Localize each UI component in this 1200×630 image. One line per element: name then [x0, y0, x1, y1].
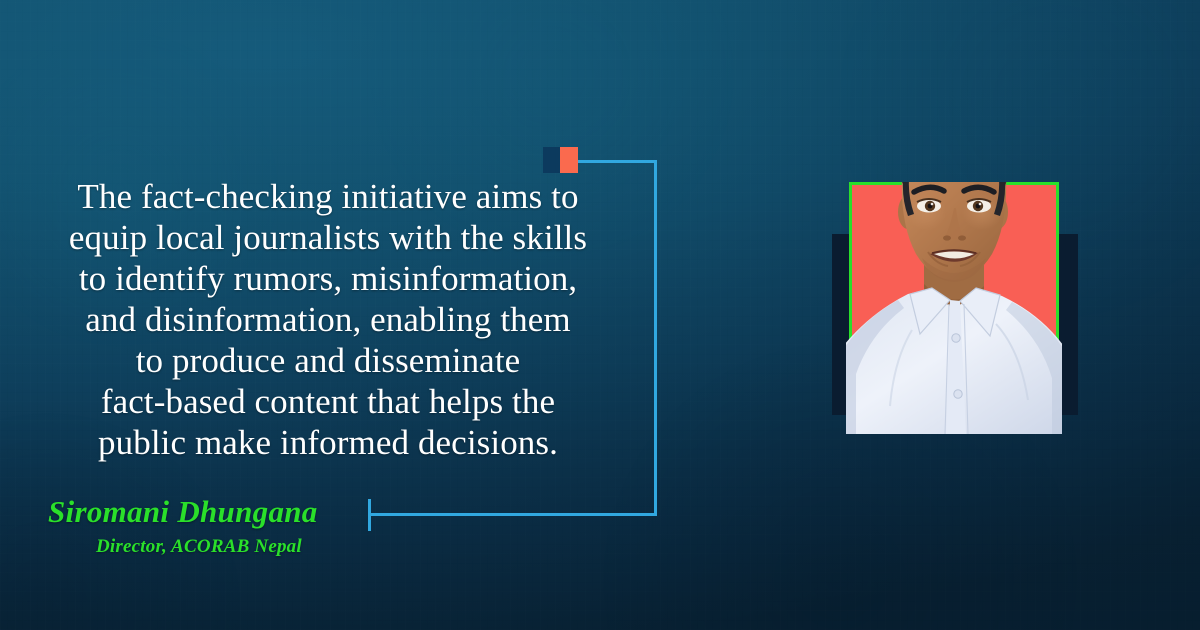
portrait-photo	[846, 88, 1062, 434]
portrait-composition	[0, 0, 1200, 630]
quote-card: The fact-checking initiative aims to equ…	[0, 0, 1200, 630]
